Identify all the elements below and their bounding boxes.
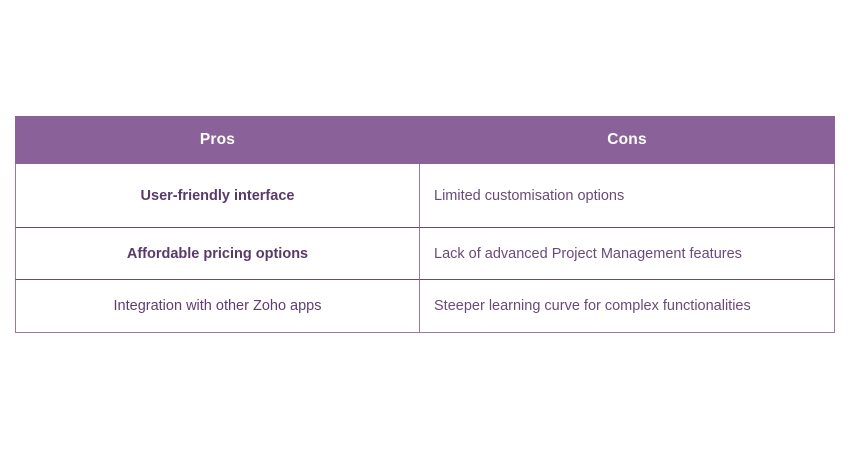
column-header-pros: Pros: [15, 116, 419, 164]
table-row: Integration with other Zoho apps Steeper…: [15, 280, 835, 333]
page-canvas: Pros Cons User-friendly interface Limite…: [0, 0, 850, 450]
pros-cell: Integration with other Zoho apps: [15, 280, 419, 333]
table-header-row: Pros Cons: [15, 116, 835, 164]
table-header: Pros Cons: [15, 116, 835, 164]
table-row: User-friendly interface Limited customis…: [15, 164, 835, 228]
table-body: User-friendly interface Limited customis…: [15, 164, 835, 333]
table-row: Affordable pricing options Lack of advan…: [15, 228, 835, 280]
cons-cell: Lack of advanced Project Management feat…: [419, 228, 835, 280]
pros-cell: Affordable pricing options: [15, 228, 419, 280]
column-header-cons: Cons: [419, 116, 835, 164]
pros-cell: User-friendly interface: [15, 164, 419, 228]
cons-cell: Limited customisation options: [419, 164, 835, 228]
pros-cons-table: Pros Cons User-friendly interface Limite…: [15, 116, 835, 333]
cons-cell: Steeper learning curve for complex funct…: [419, 280, 835, 333]
